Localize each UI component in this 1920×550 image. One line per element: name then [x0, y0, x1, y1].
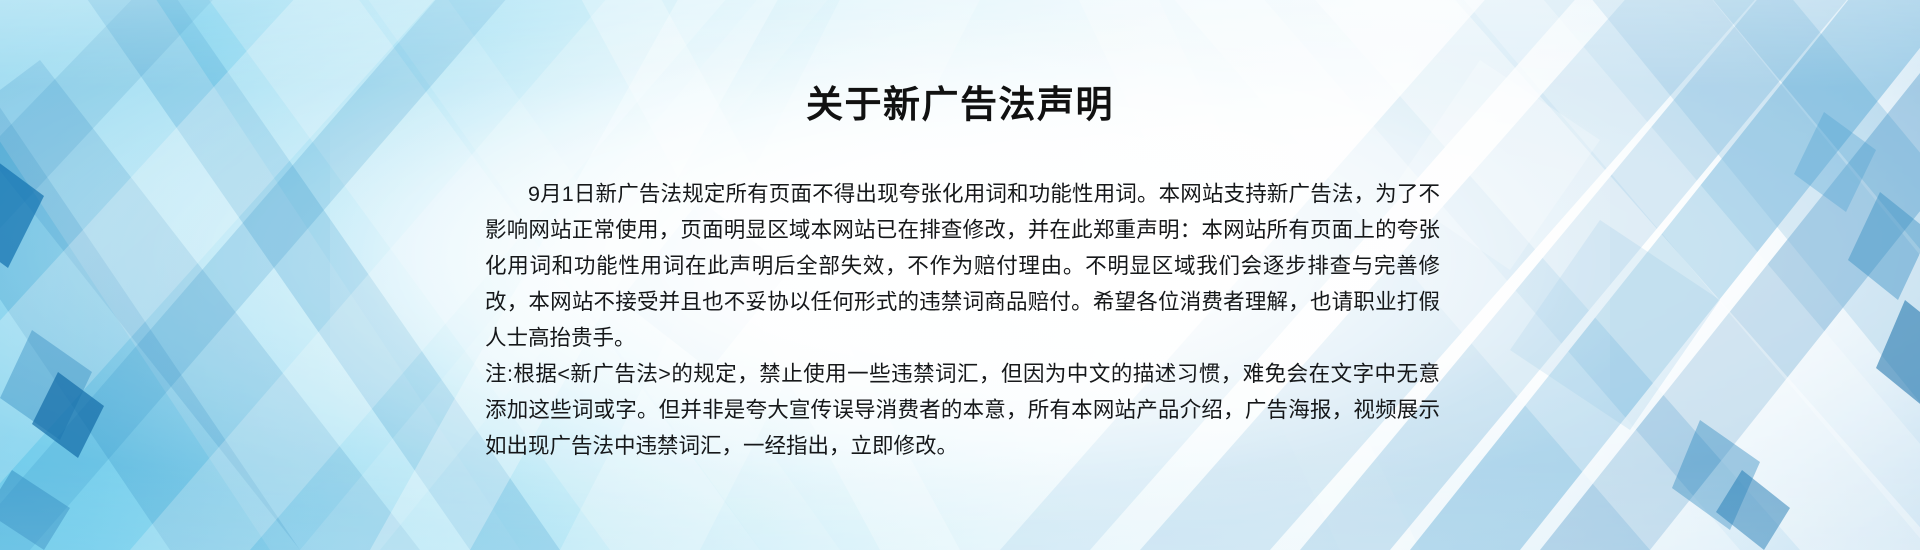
statement-content: 关于新广告法声明 9月1日新广告法规定所有页面不得出现夸张化用词和功能性用词。本…: [0, 0, 1920, 550]
statement-text-block: 9月1日新广告法规定所有页面不得出现夸张化用词和功能性用词。本网站支持新广告法，…: [485, 176, 1440, 464]
statement-paragraph-main: 9月1日新广告法规定所有页面不得出现夸张化用词和功能性用词。本网站支持新广告法，…: [485, 176, 1440, 356]
page-title: 关于新广告法声明: [0, 83, 1920, 127]
advertising-law-statement-banner: 关于新广告法声明 9月1日新广告法规定所有页面不得出现夸张化用词和功能性用词。本…: [0, 0, 1920, 550]
statement-paragraph-note: 注:根据<新广告法>的规定，禁止使用一些违禁词汇，但因为中文的描述习惯，难免会在…: [485, 356, 1440, 464]
